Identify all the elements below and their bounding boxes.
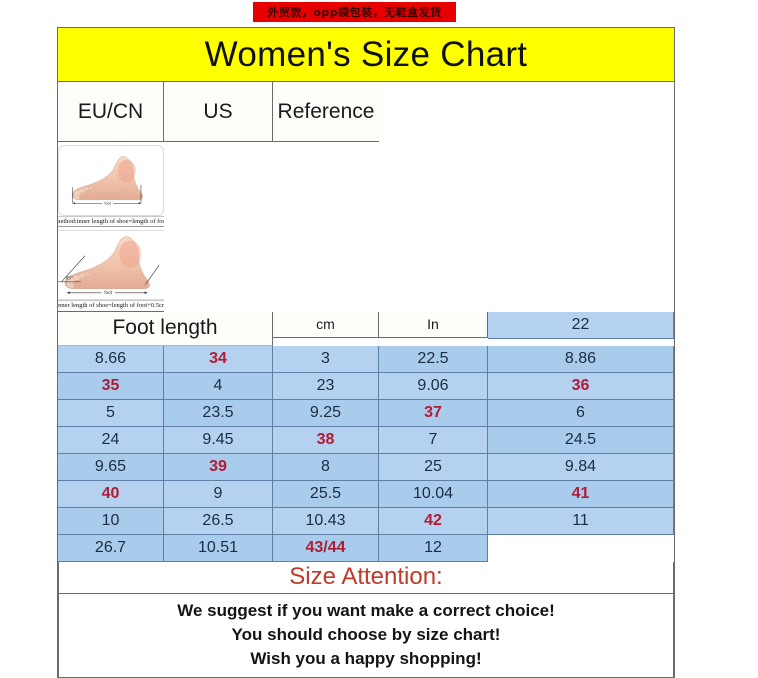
cell-eu: 40 xyxy=(102,485,120,503)
cell-in: 9.06 xyxy=(417,377,448,395)
column-header-eu-cn-label: EU/CN xyxy=(78,100,143,124)
cell-eu: 35 xyxy=(102,377,120,395)
cell-cm: 26.5 xyxy=(202,512,233,530)
cell-in: 10.43 xyxy=(305,512,345,530)
table-row: 6 xyxy=(488,400,674,427)
table-row: 22 xyxy=(488,312,674,339)
cell-in: 8.86 xyxy=(565,350,596,368)
cell-in: 9.65 xyxy=(95,458,126,476)
size-table: Foot length EU/CN US Reference cm In 22 … xyxy=(58,82,674,562)
table-row: 35 xyxy=(58,373,164,400)
note-line: You should choose by size chart! xyxy=(59,623,673,647)
reference-caption-1: method:inner length of shoe=length of fo… xyxy=(58,216,164,226)
table-row: 10.51 xyxy=(164,535,273,562)
size-attention-notes: We suggest if you want make a correct ch… xyxy=(58,594,674,678)
table-row: 37 xyxy=(379,400,488,427)
cell-us: 7 xyxy=(429,431,438,449)
svg-text:foot: foot xyxy=(104,290,112,295)
table-row: 4 xyxy=(164,373,273,400)
note-line: Wish you a happy shopping! xyxy=(59,647,673,671)
table-row: 7 xyxy=(379,427,488,454)
cell-cm: 23.5 xyxy=(202,404,233,422)
column-header-cm: cm xyxy=(273,312,379,338)
foot-side-view-angled-icon: 45° foot xyxy=(58,230,164,301)
note-line: We suggest if you want make a correct ch… xyxy=(59,599,673,623)
table-row: 8 xyxy=(273,454,379,481)
column-group-header-label: Foot length xyxy=(112,316,217,340)
cell-cm: 25.5 xyxy=(310,485,341,503)
cell-cm: 24 xyxy=(102,431,120,449)
promo-banner: 外贸款，opp袋包装，无鞋盒发货 xyxy=(253,2,456,22)
cell-in: 10.04 xyxy=(413,485,453,503)
table-row: 10.04 xyxy=(379,481,488,508)
table-row: 39 xyxy=(164,454,273,481)
cell-in: 9.84 xyxy=(565,458,596,476)
table-row: 11 xyxy=(488,508,674,535)
cell-eu: 36 xyxy=(572,377,590,395)
cell-us: 10 xyxy=(102,512,120,530)
table-row: 12 xyxy=(379,535,488,562)
cell-us: 11 xyxy=(572,512,589,530)
foot-side-view-icon: foot xyxy=(58,145,163,216)
column-header-in: In xyxy=(379,312,488,338)
reference-diagram-1: foot method:inner length of shoe=length … xyxy=(58,142,164,226)
cell-eu: 38 xyxy=(317,431,335,449)
table-row: 9.06 xyxy=(379,373,488,400)
cell-cm: 22 xyxy=(572,316,590,334)
reference-caption-2: method:inner length of shoe=length of fo… xyxy=(58,300,164,310)
cell-us: 5 xyxy=(106,404,115,422)
table-row: 36 xyxy=(488,373,674,400)
cell-cm: 26.7 xyxy=(95,539,126,557)
cell-eu: 43/44 xyxy=(305,539,345,557)
cell-in: 9.45 xyxy=(202,431,233,449)
table-row: 5 xyxy=(58,400,164,427)
table-row: 40 xyxy=(58,481,164,508)
size-attention-heading-label: Size Attention: xyxy=(289,563,442,591)
cell-eu: 34 xyxy=(209,350,227,368)
cell-cm: 25 xyxy=(424,458,442,476)
table-row: 23 xyxy=(273,373,379,400)
column-header-reference-label: Reference xyxy=(278,100,375,124)
table-row: 23.5 xyxy=(164,400,273,427)
table-row: 10 xyxy=(58,508,164,535)
cell-us: 8 xyxy=(321,458,330,476)
table-row: 24 xyxy=(58,427,164,454)
table-row: 25 xyxy=(379,454,488,481)
cell-eu: 42 xyxy=(424,512,442,530)
cell-eu: 39 xyxy=(209,458,227,476)
table-row: 9.84 xyxy=(488,454,674,481)
cell-us: 4 xyxy=(214,377,223,395)
column-header-us: US xyxy=(164,82,273,142)
table-row: 41 xyxy=(488,481,674,508)
cell-eu: 41 xyxy=(572,485,590,503)
svg-text:45°: 45° xyxy=(66,276,73,281)
table-row: 42 xyxy=(379,508,488,535)
column-header-in-label: In xyxy=(427,316,439,332)
table-row: 26.7 xyxy=(58,535,164,562)
column-header-cm-label: cm xyxy=(316,316,335,332)
page-title: Women's Size Chart xyxy=(205,35,528,75)
table-row: 26.5 xyxy=(164,508,273,535)
table-row: 9.25 xyxy=(273,400,379,427)
table-row: 9 xyxy=(164,481,273,508)
size-chart-card: Women's Size Chart Foot length EU/CN US … xyxy=(57,27,675,678)
column-header-eu-cn: EU/CN xyxy=(58,82,164,142)
cell-eu: 37 xyxy=(424,404,442,422)
cell-in: 9.25 xyxy=(310,404,341,422)
table-row: 34 xyxy=(164,346,273,373)
column-header-reference: Reference xyxy=(273,82,379,142)
cell-cm: 24.5 xyxy=(565,431,596,449)
cell-cm: 23 xyxy=(317,377,335,395)
size-attention-heading: Size Attention: xyxy=(58,562,674,594)
reference-column: foot method:inner length of shoe=length … xyxy=(58,142,164,312)
table-row: 25.5 xyxy=(273,481,379,508)
cell-us: 6 xyxy=(576,404,585,422)
column-group-header-foot-length: Foot length xyxy=(58,312,273,346)
reference-diagram-2: 45° foot method:inner length of shoe=len… xyxy=(58,226,164,311)
table-row: 22.5 xyxy=(379,346,488,373)
cell-in: 10.51 xyxy=(198,539,238,557)
table-row: 9.45 xyxy=(164,427,273,454)
table-row: 24.5 xyxy=(488,427,674,454)
table-row: 43/44 xyxy=(273,535,379,562)
cell-cm: 22.5 xyxy=(417,350,448,368)
cell-in: 8.66 xyxy=(95,350,126,368)
table-row: 10.43 xyxy=(273,508,379,535)
cell-us: 9 xyxy=(214,485,223,503)
table-row: 8.86 xyxy=(488,346,674,373)
table-row: 38 xyxy=(273,427,379,454)
column-header-us-label: US xyxy=(203,100,232,124)
cell-us: 3 xyxy=(321,350,330,368)
table-row: 8.66 xyxy=(58,346,164,373)
svg-text:foot: foot xyxy=(105,201,112,205)
table-row: 3 xyxy=(273,346,379,373)
chart-title-bar: Women's Size Chart xyxy=(58,28,674,82)
cell-us: 12 xyxy=(424,539,442,557)
promo-banner-text: 外贸款，opp袋包装，无鞋盒发货 xyxy=(267,4,441,20)
table-row: 9.65 xyxy=(58,454,164,481)
